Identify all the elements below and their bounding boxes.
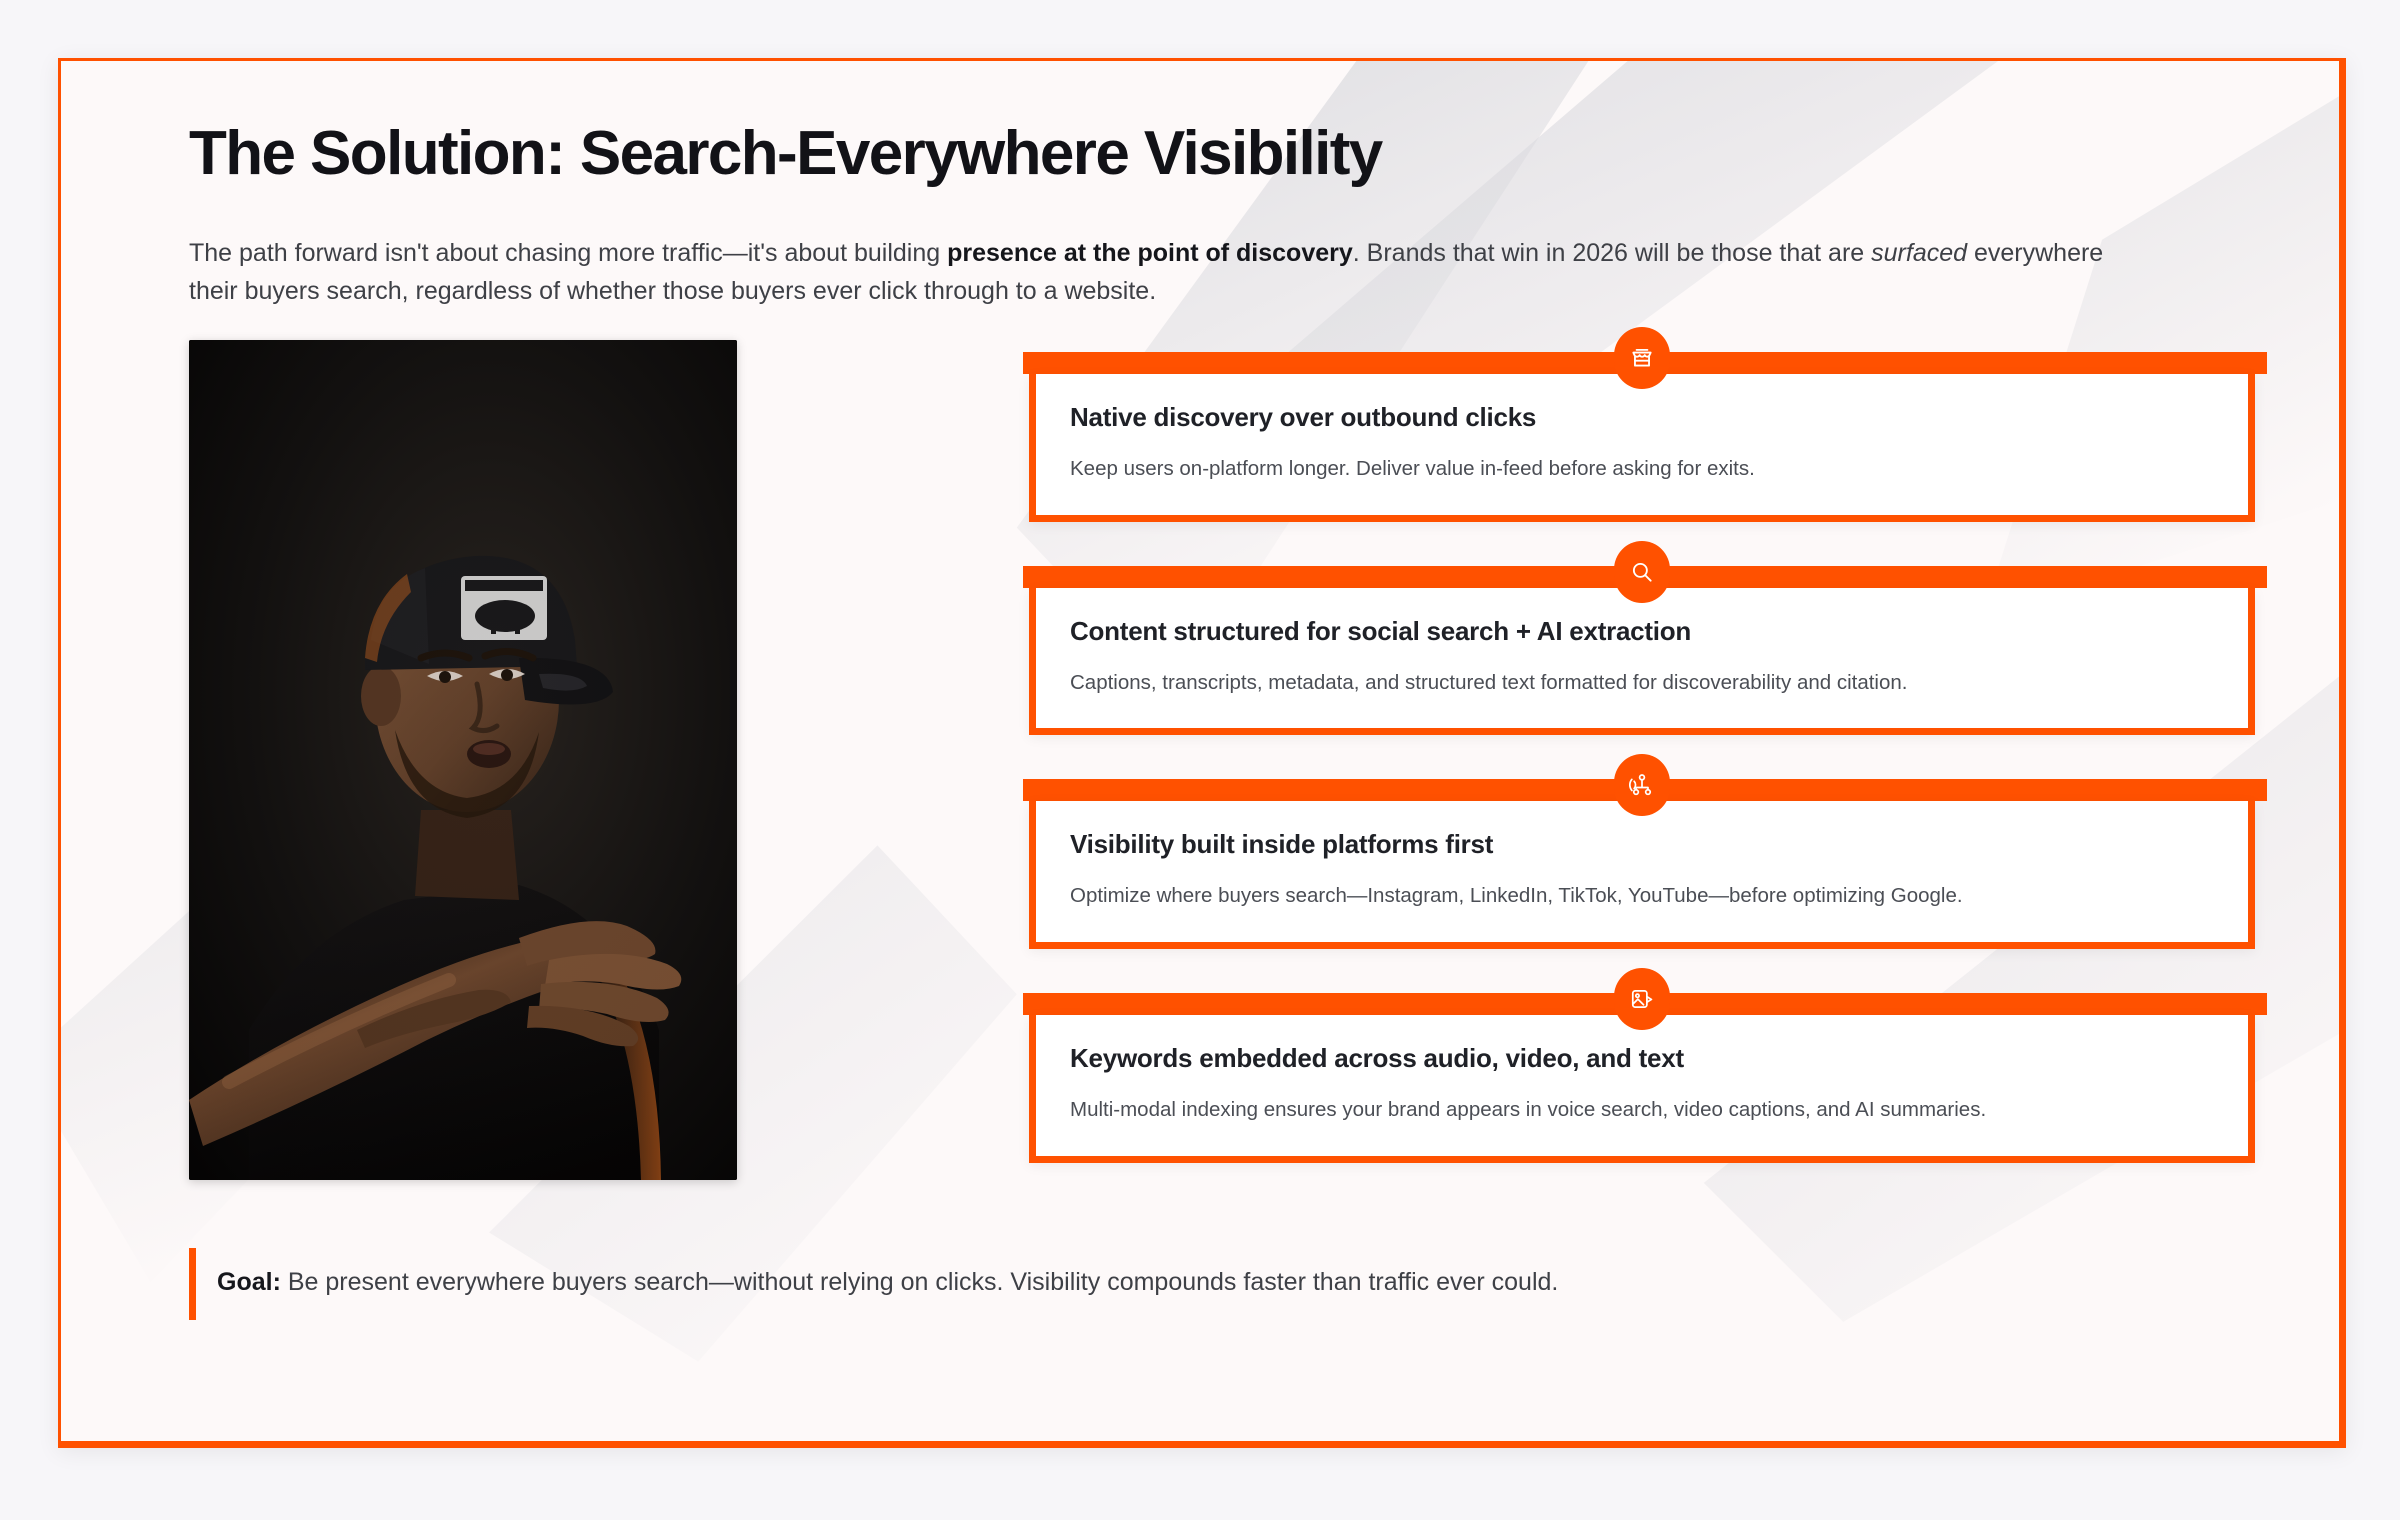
intro-bold-phrase: presence at the point of discovery [947, 239, 1353, 267]
intro-italic-word: surfaced [1871, 239, 1967, 267]
page-title: The Solution: Search-Everywhere Visibili… [189, 121, 2269, 188]
intro-part-1: The path forward isn't about chasing mor… [189, 239, 947, 267]
feature-card[interactable]: Native discovery over outbound clicks Ke… [1029, 352, 2255, 522]
card-title: Keywords embedded across audio, video, a… [1070, 1043, 2214, 1074]
card-body: Keywords embedded across audio, video, a… [1029, 1015, 2255, 1163]
card-title: Visibility built inside platforms first [1070, 829, 2214, 860]
card-description: Keep users on-platform longer. Deliver v… [1070, 453, 2214, 485]
card-description: Optimize where buyers search—Instagram, … [1070, 880, 2214, 912]
goal-text: Goal: Be present everywhere buyers searc… [217, 1246, 2189, 1302]
card-body: Native discovery over outbound clicks Ke… [1029, 374, 2255, 522]
portrait-photo [189, 340, 737, 1180]
photo-column [189, 340, 829, 1180]
goal-callout: Goal: Be present everywhere buyers searc… [189, 1246, 2189, 1302]
card-description: Captions, transcripts, metadata, and str… [1070, 667, 2214, 699]
slide-content: The Solution: Search-Everywhere Visibili… [61, 61, 2339, 1180]
goal-label: Goal: [217, 1268, 281, 1296]
goal-body: Be present everywhere buyers search—with… [281, 1268, 1558, 1296]
media-play-icon [1614, 968, 1670, 1030]
feature-card[interactable]: Keywords embedded across audio, video, a… [1029, 993, 2255, 1163]
intro-paragraph: The path forward isn't about chasing mor… [189, 234, 2139, 310]
feature-card[interactable]: Content structured for social search + A… [1029, 566, 2255, 736]
intro-part-2: . Brands that win in 2026 will be those … [1353, 239, 1871, 267]
feature-card[interactable]: Visibility built inside platforms first … [1029, 779, 2255, 949]
search-icon [1614, 541, 1670, 603]
card-body: Content structured for social search + A… [1029, 588, 2255, 736]
card-description: Multi-modal indexing ensures your brand … [1070, 1094, 2214, 1126]
feature-cards-list: Native discovery over outbound clicks Ke… [829, 340, 2269, 1163]
card-body: Visibility built inside platforms first … [1029, 801, 2255, 949]
card-title: Content structured for social search + A… [1070, 616, 2214, 647]
card-title: Native discovery over outbound clicks [1070, 402, 2214, 433]
body-row: Native discovery over outbound clicks Ke… [189, 340, 2269, 1180]
network-nodes-icon [1614, 754, 1670, 816]
slide-frame: The Solution: Search-Everywhere Visibili… [58, 58, 2346, 1448]
storefront-icon [1614, 327, 1670, 389]
